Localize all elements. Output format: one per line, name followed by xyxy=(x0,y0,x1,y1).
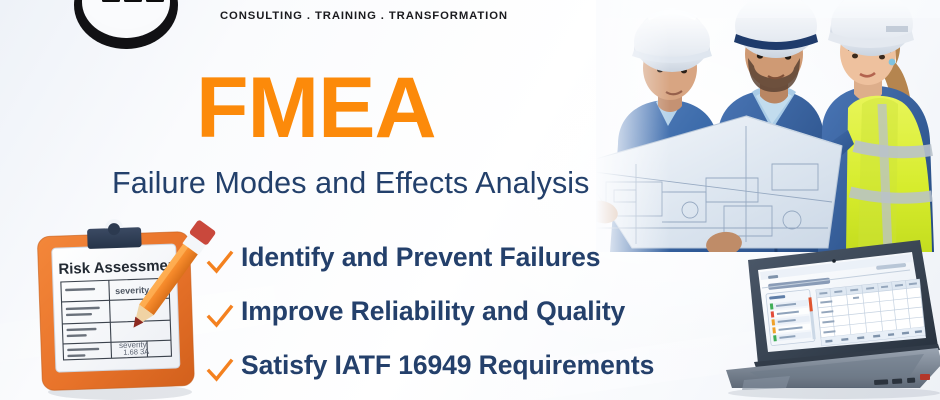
check-icon xyxy=(205,248,235,278)
list-item[interactable]: Satisfy IATF 16949 Requirements xyxy=(205,348,675,400)
check-icon xyxy=(205,356,235,386)
benefit-list: Identify and Prevent Failures Improve Re… xyxy=(205,240,675,400)
list-item[interactable]: Identify and Prevent Failures xyxy=(205,240,675,294)
list-item-label: Improve Reliability and Quality xyxy=(241,296,625,327)
clipboard-cell-value: 1.68 3A xyxy=(123,347,149,357)
clipboard-column-header: severity xyxy=(115,285,149,296)
check-icon xyxy=(205,302,235,332)
circular-growth-chart-logo-icon xyxy=(58,0,194,54)
list-item[interactable]: Improve Reliability and Quality xyxy=(205,294,675,348)
fmea-promo-banner: GMI CONSULTING . TRAINING . TRANSFORMATI… xyxy=(0,0,940,400)
three-engineers-reviewing-blueprint-photo xyxy=(596,0,940,252)
brand-logo[interactable]: GMI CONSULTING . TRAINING . TRANSFORMATI… xyxy=(58,0,478,54)
logo-wordmark: GMI xyxy=(210,0,323,8)
page-title: FMEA xyxy=(196,65,436,151)
risk-assessment-clipboard: Risk Assessment severity severity 1.68 xyxy=(28,228,206,400)
logo-tagline: CONSULTING . TRAINING . TRANSFORMATION xyxy=(220,10,508,22)
page-subtitle: Failure Modes and Effects Analysis xyxy=(112,166,590,201)
laptop-with-fmea-software[interactable] xyxy=(724,238,940,400)
list-item-label: Satisfy IATF 16949 Requirements xyxy=(241,350,654,381)
list-item-label: Identify and Prevent Failures xyxy=(241,242,600,273)
